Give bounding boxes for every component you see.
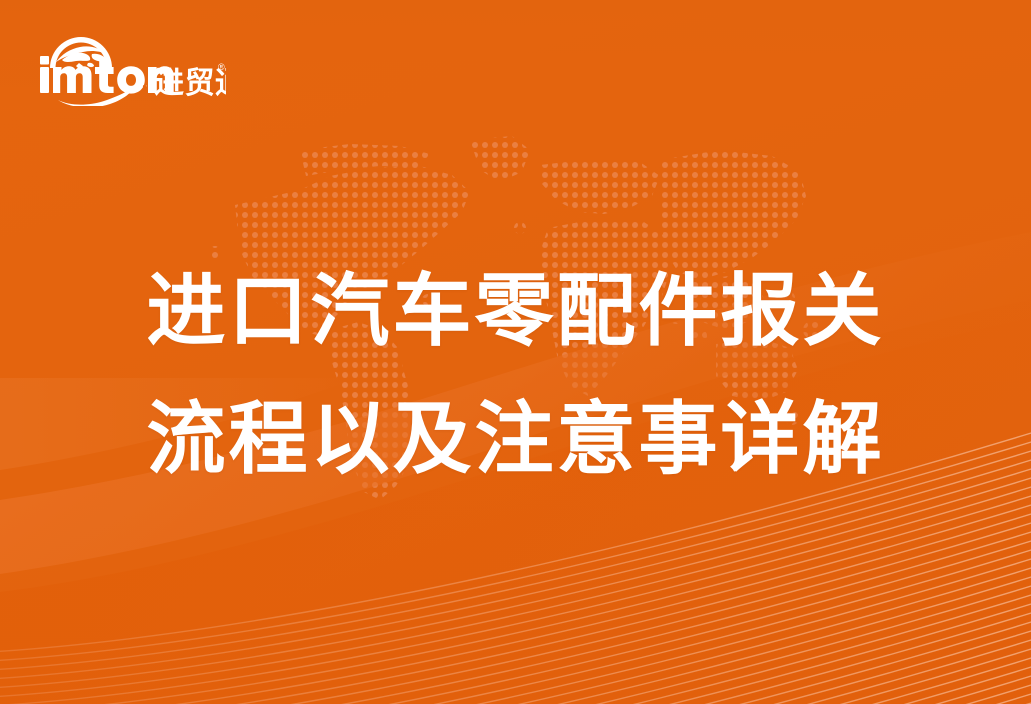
headline-line-2: 流程以及注意事详解: [0, 375, 1031, 503]
headline-line-1: 进口汽车零配件报关: [0, 247, 1031, 375]
headline-block: 进口汽车零配件报关 流程以及注意事详解: [0, 247, 1031, 503]
brand-logo[interactable]: 进贸通 ® imton 进贸通 ®: [36, 24, 226, 106]
logo-chinese-name: 进贸通: [154, 67, 226, 100]
registered-trademark-symbol: ®: [218, 62, 225, 72]
promotional-banner: 进贸通 ® imton 进贸通 ® 进口汽车零配件报关 流程以及注意事详解: [0, 0, 1031, 704]
